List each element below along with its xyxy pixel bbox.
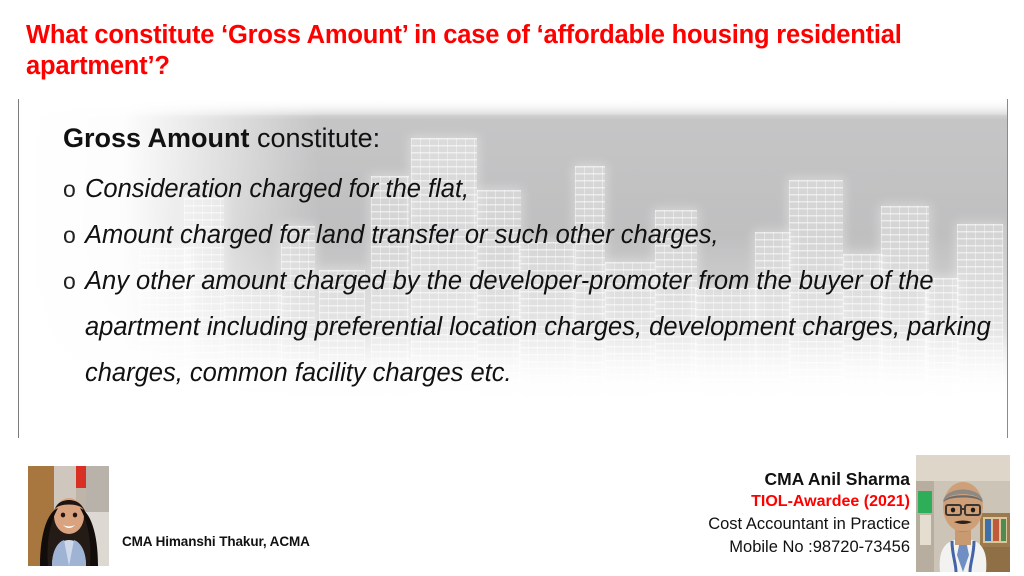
anil-portrait-graphic	[916, 455, 1010, 572]
list-item: o Amount charged for land transfer or su…	[63, 212, 999, 258]
lead-line-strong: Gross Amount	[63, 123, 250, 153]
anil-role-label: Cost Accountant in Practice	[570, 513, 910, 536]
bullet-circle-icon: o	[63, 258, 85, 304]
bullet-circle-icon: o	[63, 166, 85, 212]
anil-name-label: CMA Anil Sharma	[570, 468, 910, 491]
content-box: Gross Amount constitute: o Consideration…	[18, 99, 1008, 438]
bullet-circle-icon: o	[63, 212, 85, 258]
body-text: Gross Amount constitute: o Consideration…	[19, 99, 1007, 396]
himanshi-name-label: CMA Himanshi Thakur, ACMA	[122, 534, 310, 549]
lead-line-rest: constitute:	[250, 123, 381, 153]
page-title: What constitute ‘Gross Amount’ in case o…	[26, 20, 976, 82]
list-item: o Consideration charged for the flat,	[63, 166, 999, 212]
anil-award-label: TIOL-Awardee (2021)	[570, 491, 910, 513]
list-item-label: Any other amount charged by the develope…	[85, 258, 999, 396]
anil-mobile-label: Mobile No :98720-73456	[570, 536, 910, 559]
list-item: o Any other amount charged by the develo…	[63, 258, 999, 396]
anil-sharma-credentials: CMA Anil Sharma TIOL-Awardee (2021) Cost…	[570, 468, 910, 559]
avatar	[28, 466, 109, 566]
list-item-label: Consideration charged for the flat,	[85, 166, 999, 212]
list-item-label: Amount charged for land transfer or such…	[85, 212, 999, 258]
lead-line: Gross Amount constitute:	[63, 121, 999, 155]
himanshi-portrait-graphic	[28, 466, 109, 566]
avatar	[916, 455, 1010, 572]
